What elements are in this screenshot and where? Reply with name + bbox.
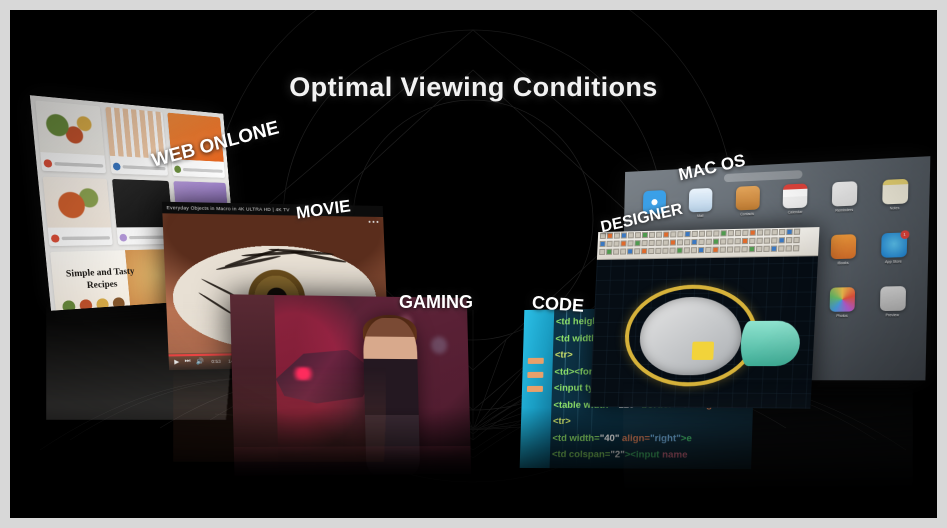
launchpad-app-label: Photos (828, 315, 856, 319)
app-store-icon[interactable]: 1 (881, 232, 907, 257)
status-badge: 1 (900, 230, 909, 239)
page-title: Optimal Viewing Conditions (10, 72, 937, 103)
preview-icon[interactable] (880, 286, 906, 311)
video-time-current: 0:53 (211, 358, 221, 363)
launchpad-app-label: Mail (687, 214, 713, 219)
launchpad-app[interactable]: Photos (827, 287, 856, 336)
avatar (112, 162, 120, 170)
list-item[interactable] (43, 177, 113, 247)
hero-chips (62, 297, 125, 311)
launchpad-app-label: App Store (879, 260, 908, 265)
avatar (43, 159, 52, 168)
cad-model-shaft (740, 320, 801, 366)
launchpad-app[interactable]: Reminders (830, 181, 859, 231)
launchpad-app-label: Notes (880, 207, 909, 212)
panel-label-gaming: GAMING (399, 292, 473, 313)
hero-headline: Simple and Tasty Recipes (61, 265, 140, 292)
card-thumbnail (43, 177, 111, 228)
card-title-line (54, 161, 103, 167)
notes-icon[interactable] (882, 179, 908, 205)
launchpad-app-label: Contacts (734, 213, 761, 218)
cad-screen (590, 227, 820, 409)
list-item[interactable] (35, 100, 106, 173)
launchpad-app[interactable]: Notes (880, 179, 910, 229)
ibooks-icon[interactable] (831, 234, 857, 259)
avatar (51, 234, 60, 242)
launchpad-app-label: Calendar (781, 211, 809, 216)
game-scene-screen (230, 294, 471, 476)
cad-model-detail (692, 342, 715, 360)
code-line: <td colspan="2"><input name (550, 446, 752, 464)
video-options-icon[interactable] (369, 221, 379, 223)
reflection-gaming (238, 474, 469, 518)
panel-designer[interactable] (590, 227, 820, 409)
mail-icon[interactable] (689, 188, 713, 212)
code-line: <td width="40" align="right">e (550, 429, 752, 446)
volume-icon[interactable]: 🔊 (196, 357, 204, 364)
list-item-hero[interactable]: Simple and Tasty Recipes (50, 249, 180, 311)
launchpad-app-label: Reminders (830, 209, 858, 214)
cad-viewport[interactable] (590, 256, 818, 408)
reminders-icon[interactable] (832, 181, 858, 206)
cad-toolbar[interactable] (597, 227, 820, 260)
play-icon[interactable]: ▶ (174, 358, 179, 365)
slide-stage: Optimal Viewing Conditions WEB ONLONE (10, 10, 937, 518)
weapon-glow (290, 367, 317, 380)
photos-icon[interactable] (830, 287, 856, 312)
code-line: <tr> (551, 413, 753, 430)
card-meta (43, 157, 103, 171)
card-thumbnail (35, 100, 104, 155)
editor-sidebar (520, 310, 555, 469)
floor-gradient (10, 408, 937, 518)
reflection-code (522, 468, 748, 518)
launchpad-app[interactable]: Calendar (781, 183, 810, 232)
card-title-line (183, 167, 223, 172)
next-icon[interactable]: ⏭ (185, 358, 191, 365)
contacts-icon[interactable] (735, 186, 759, 211)
launchpad-app[interactable]: Contacts (733, 186, 761, 235)
card-title-line (61, 236, 109, 240)
launchpad-app-label: Preview (878, 314, 907, 318)
panel-label-code: CODE (531, 292, 584, 317)
panel-gaming[interactable] (230, 294, 471, 476)
launchpad-app[interactable]: Preview (877, 286, 907, 336)
launchpad-app[interactable]: 1App Store (878, 232, 908, 282)
launchpad-app[interactable]: iBooks (829, 234, 858, 283)
scene-floor (234, 446, 471, 476)
avatar (119, 233, 127, 241)
calendar-icon[interactable] (783, 183, 808, 208)
card-meta (51, 232, 111, 244)
launchpad-app-label: iBooks (829, 262, 857, 267)
